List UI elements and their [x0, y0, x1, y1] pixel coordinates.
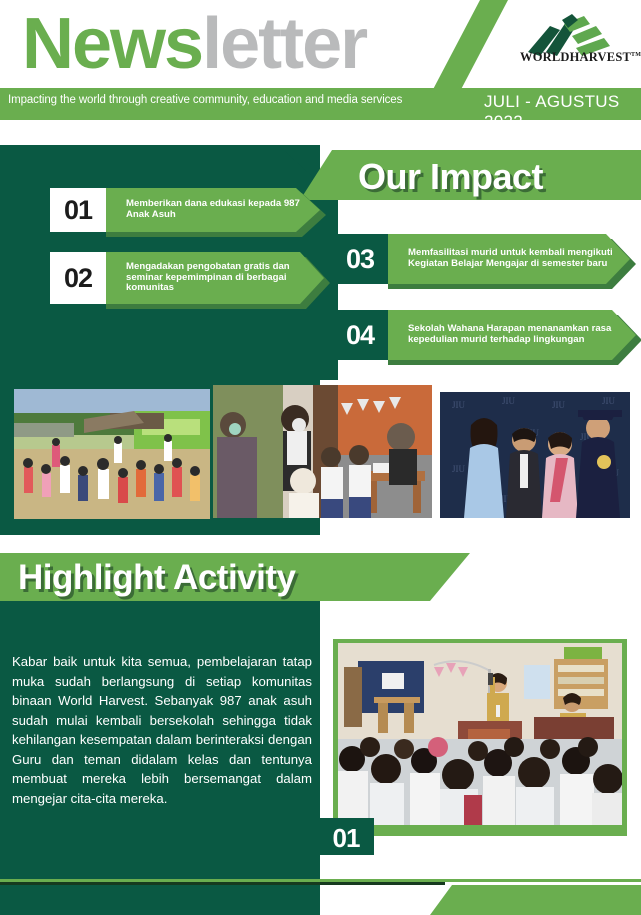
highlight-banner-title: Highlight Activity: [18, 557, 295, 599]
impact-item-text: Memberikan dana edukasi kepada 987 Anak …: [126, 188, 350, 232]
impact-number: 03: [332, 234, 388, 284]
impact-item-01: 01 Memberikan dana edukasi kepada 987 An…: [50, 188, 320, 232]
impact-number: 04: [332, 310, 388, 360]
footer-dark-top: [0, 855, 320, 879]
svg-text:JIU: JIU: [602, 396, 615, 406]
svg-text:JIU: JIU: [452, 464, 465, 474]
children-outdoors-village-photo: [14, 389, 210, 519]
classroom-assembly-speaker-photo: [338, 643, 622, 825]
footer-green-block: [430, 885, 641, 915]
newsletter-page: Newsletter WORLDHARVESTTM Impacting the …: [0, 0, 641, 915]
svg-text:JIU: JIU: [502, 396, 515, 406]
svg-text:JIU: JIU: [452, 400, 465, 410]
footer-white-gap: [320, 855, 641, 879]
footer-dark-bottom: [0, 885, 320, 915]
impact-number: 01: [50, 188, 106, 232]
impact-item-text: Sekolah Wahana Harapan menanamkan rasa k…: [408, 310, 641, 360]
page-title: Newsletter: [22, 6, 366, 82]
impact-item-02: 02 Mengadakan pengobatan gratis dan semi…: [50, 252, 320, 304]
impact-item-text: Memfasilitasi murid untuk kembali mengik…: [408, 234, 641, 284]
tagline-text: Impacting the world through creative com…: [8, 94, 458, 106]
medical-checkup-community-photo: [213, 385, 432, 518]
impact-number: 02: [50, 252, 106, 304]
highlight-badge-number: 01: [318, 818, 374, 858]
logo-trademark: TM: [631, 52, 641, 58]
title-news: News: [22, 4, 202, 84]
highlight-body-text: Kabar baik untuk kita semua, pembelajara…: [12, 652, 312, 808]
graduation-family-portrait-photo: JIUJIUJIU JIUJIUJIU JIUJIUJIU JIU: [440, 392, 630, 518]
impact-item-text: Mengadakan pengobatan gratis dan seminar…: [126, 252, 356, 304]
impact-item-03: 03 Memfasilitasi murid untuk kembali men…: [332, 234, 612, 284]
impact-banner-title: Our Impact: [358, 155, 638, 199]
logo-wordmark: WORLDHARVESTTM: [520, 50, 632, 65]
svg-text:JIU: JIU: [552, 400, 565, 410]
title-letter: letter: [202, 4, 366, 84]
issue-date: JULI - AGUSTUS 2022: [484, 92, 641, 132]
logo-word-text: WORLDHARVEST: [520, 50, 631, 64]
impact-item-04: 04 Sekolah Wahana Harapan menanamkan ras…: [332, 310, 612, 360]
